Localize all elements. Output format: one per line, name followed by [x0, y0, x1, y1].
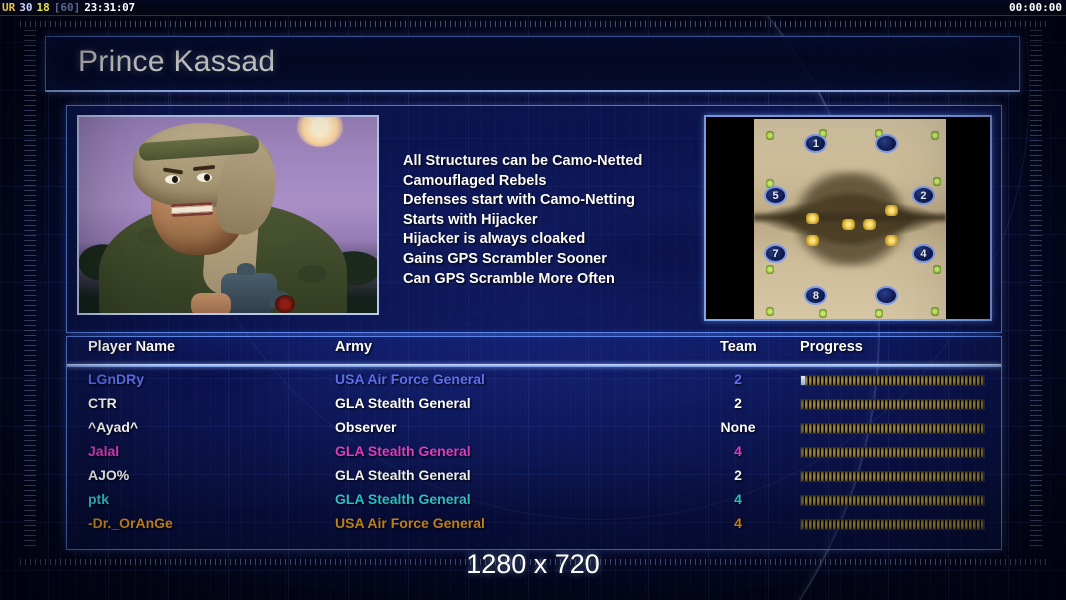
- progress-bar: [800, 423, 985, 434]
- progress-bar: [800, 519, 985, 530]
- table-row: ^Ayad^ObserverNone: [67, 417, 1001, 441]
- bonus-item: Can GPS Scramble More Often: [403, 270, 703, 290]
- player-rows: LGnDRyUSA Air Force General2CTRGLA Steal…: [67, 369, 1001, 537]
- map-spawn-point: [875, 286, 898, 305]
- army-cell: GLA Stealth General: [335, 395, 471, 411]
- map-oil-derrick-icon: [842, 219, 855, 230]
- bonus-item: Camouflaged Rebels: [403, 172, 703, 192]
- map-spawn-point: [875, 134, 898, 153]
- table-header-row: Player Name Army Team Progress: [67, 339, 1001, 363]
- hud-left-stats: UR 30 18 [60] 23:31:07: [0, 1, 135, 14]
- map-oil-derrick-icon: [885, 205, 898, 216]
- progress-bar: [800, 447, 985, 458]
- portrait-kettle-lid: [237, 263, 255, 275]
- map-preview-frame: 152748: [704, 115, 992, 321]
- map-oil-derrick-icon: [863, 219, 876, 230]
- general-info-panel: All Structures can be Camo-Netted Camouf…: [66, 105, 1002, 333]
- progress-bar-fill: [801, 448, 984, 457]
- map-supply-icon: [819, 309, 827, 318]
- team-cell: 2: [720, 371, 756, 387]
- player-name-cell: ptk: [88, 491, 109, 507]
- bonus-item: Hijacker is always cloaked: [403, 230, 703, 250]
- bonus-item: Starts with Hijacker: [403, 211, 703, 231]
- team-cell: 4: [720, 443, 756, 459]
- map-spawn-point: 8: [804, 286, 827, 305]
- team-cell: 4: [720, 491, 756, 507]
- hud-topbar: UR 30 18 [60] 23:31:07 00:00:00: [0, 0, 1066, 16]
- portrait-mouth: [171, 202, 214, 217]
- table-row: -Dr._OrAnGeUSA Air Force General4: [67, 513, 1001, 537]
- hud-label: UR: [2, 1, 15, 14]
- player-name-cell: ^Ayad^: [88, 419, 138, 435]
- title-panel: Prince Kassad: [45, 36, 1020, 92]
- column-header-team: Team: [720, 339, 757, 355]
- map-spawn-point: 5: [764, 186, 787, 205]
- progress-bar: [800, 375, 985, 386]
- loading-screen: UR 30 18 [60] 23:31:07 00:00:00 Prince K…: [0, 0, 1066, 600]
- map-spawn-point: 7: [764, 244, 787, 263]
- bonus-item: Gains GPS Scrambler Sooner: [403, 250, 703, 270]
- progress-bar-fill: [801, 472, 984, 481]
- table-row: LGnDRyUSA Air Force General2: [67, 369, 1001, 393]
- map-oil-derrick-icon: [806, 213, 819, 224]
- portrait-hand: [191, 293, 231, 313]
- army-cell: GLA Stealth General: [335, 491, 471, 507]
- resolution-label: 1280 x 720: [0, 549, 1066, 580]
- map-preview: 152748: [754, 119, 946, 319]
- army-cell: Observer: [335, 419, 396, 435]
- column-header-player-name: Player Name: [88, 339, 175, 355]
- progress-bar-fill: [801, 496, 984, 505]
- bonus-item: Defenses start with Camo-Netting: [403, 191, 703, 211]
- player-name-cell: CTR: [88, 395, 117, 411]
- army-cell: USA Air Force General: [335, 371, 485, 387]
- page-title: Prince Kassad: [78, 45, 275, 79]
- table-row: AJO%GLA Stealth General2: [67, 465, 1001, 489]
- map-supply-icon: [875, 309, 883, 318]
- army-cell: GLA Stealth General: [335, 443, 471, 459]
- ruler-right: [1030, 30, 1042, 550]
- team-cell: None: [720, 419, 756, 435]
- progress-bar: [800, 399, 985, 410]
- table-row: JalalGLA Stealth General4: [67, 441, 1001, 465]
- column-header-progress: Progress: [800, 339, 863, 355]
- progress-bar: [800, 471, 985, 482]
- table-header-divider: [67, 364, 1001, 367]
- map-spawn-point: 1: [804, 134, 827, 153]
- hud-value-c: [60]: [54, 1, 81, 14]
- table-row: ptkGLA Stealth General4: [67, 489, 1001, 513]
- map-spawn-point: 4: [912, 244, 935, 263]
- hud-value-a: 30: [19, 1, 32, 14]
- progress-bar-marker: [801, 376, 805, 385]
- bonus-item: All Structures can be Camo-Netted: [403, 152, 703, 172]
- progress-bar-fill: [801, 400, 984, 409]
- general-bonus-list: All Structures can be Camo-Netted Camouf…: [403, 152, 703, 289]
- table-row: CTRGLA Stealth General2: [67, 393, 1001, 417]
- map-supply-icon: [766, 265, 774, 274]
- map-supply-icon: [931, 307, 939, 316]
- hud-value-b: 18: [37, 1, 50, 14]
- map-supply-icon: [931, 131, 939, 140]
- map-oil-derrick-icon: [806, 235, 819, 246]
- player-name-cell: Jalal: [88, 443, 119, 459]
- ruler-top: [20, 18, 1046, 30]
- portrait-pupil-right: [204, 174, 210, 181]
- progress-bar-fill: [801, 424, 984, 433]
- map-supply-icon: [933, 265, 941, 274]
- player-list-panel: Player Name Army Team Progress LGnDRyUSA…: [66, 336, 1002, 550]
- map-oil-derrick-icon: [885, 235, 898, 246]
- portrait-kettle-flame: [275, 295, 295, 313]
- general-portrait: [79, 117, 377, 313]
- player-name-cell: LGnDRy: [88, 371, 144, 387]
- army-cell: USA Air Force General: [335, 515, 485, 531]
- progress-bar-fill: [801, 520, 984, 529]
- team-cell: 4: [720, 515, 756, 531]
- general-portrait-frame: [77, 115, 379, 315]
- player-name-cell: -Dr._OrAnGe: [88, 515, 173, 531]
- column-header-army: Army: [335, 339, 372, 355]
- progress-bar: [800, 495, 985, 506]
- team-cell: 2: [720, 467, 756, 483]
- progress-bar-fill: [801, 376, 984, 385]
- hud-clock: 23:31:07: [84, 1, 135, 14]
- map-supply-icon: [766, 131, 774, 140]
- team-cell: 2: [720, 395, 756, 411]
- hud-game-timer: 00:00:00: [1009, 1, 1066, 14]
- player-name-cell: AJO%: [88, 467, 129, 483]
- portrait-pupil-left: [172, 176, 178, 183]
- map-spawn-point: 2: [912, 186, 935, 205]
- map-supply-icon: [766, 307, 774, 316]
- army-cell: GLA Stealth General: [335, 467, 471, 483]
- ruler-left: [24, 30, 36, 550]
- map-supply-icon: [933, 177, 941, 186]
